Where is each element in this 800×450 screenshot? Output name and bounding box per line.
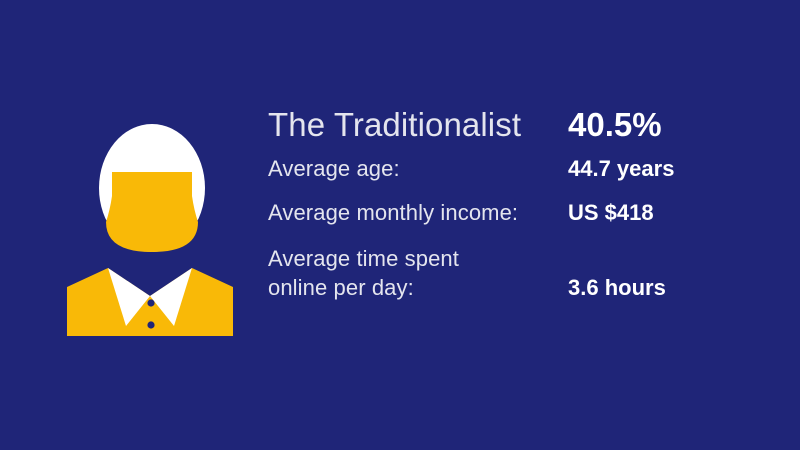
- avatar-face: [106, 172, 198, 252]
- avatar-shirt-button-bottom: [147, 321, 154, 328]
- infographic-panel: The Traditionalist 40.5% Average age: 44…: [0, 0, 800, 450]
- stat-value-monthly-income: US $418: [568, 198, 654, 228]
- persona-avatar-illustration: [40, 100, 260, 360]
- stat-value-average-age: 44.7 years: [568, 154, 674, 184]
- stat-value-time-online: 3.6 hours: [568, 273, 666, 302]
- stat-row-time-online: Average time spent online per day: 3.6 h…: [268, 244, 768, 314]
- stat-label-time-online-line2: online per day:: [268, 275, 414, 300]
- stat-row-monthly-income: Average monthly income: US $418: [268, 198, 768, 244]
- stat-label-time-online: Average time spent online per day:: [268, 244, 459, 302]
- persona-title-row: The Traditionalist 40.5%: [268, 104, 768, 154]
- avatar-svg: [40, 100, 260, 360]
- persona-details: The Traditionalist 40.5% Average age: 44…: [268, 104, 768, 314]
- stat-row-average-age: Average age: 44.7 years: [268, 154, 768, 198]
- stat-label-time-online-line1: Average time spent: [268, 246, 459, 271]
- persona-percentage: 40.5%: [568, 104, 662, 146]
- avatar-shirt-button-top: [147, 299, 154, 306]
- stat-label-monthly-income: Average monthly income:: [268, 198, 518, 228]
- page-title: The Traditionalist: [268, 104, 521, 146]
- stat-label-average-age: Average age:: [268, 154, 400, 184]
